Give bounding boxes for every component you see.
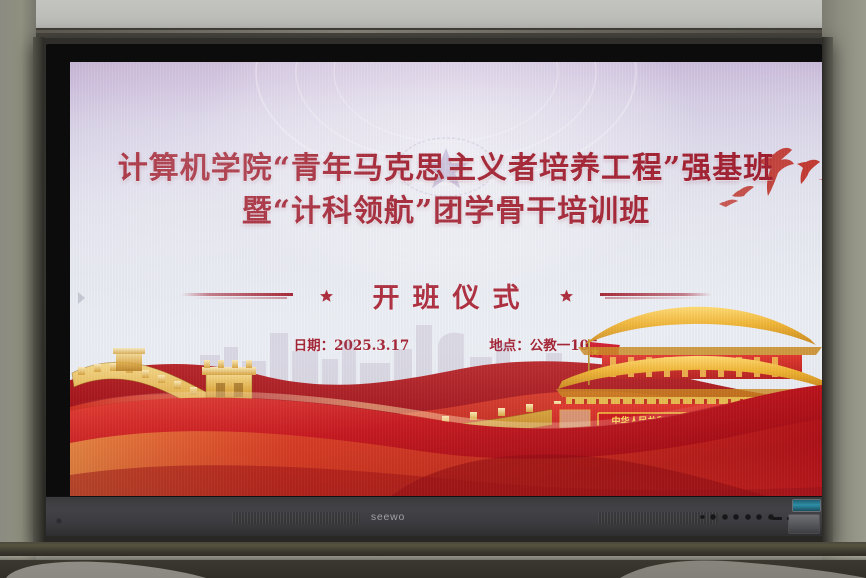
control-button-6[interactable] (756, 514, 762, 520)
slide-title-line-2: 暨“计科领航”团学骨干培训班 (70, 191, 822, 234)
control-button-3[interactable] (722, 514, 728, 520)
slide-title-block: 计算机学院“青年马克思主义者培养工程”强基班 暨“计科领航”团学骨干培训班 (70, 148, 822, 233)
brand-logo: seewo (0, 511, 776, 523)
control-button-1[interactable] (700, 515, 705, 520)
chassis-right-edge (822, 37, 833, 544)
star-icon-left (319, 288, 334, 303)
wall-left (0, 0, 36, 578)
ceiling-rail-highlight (0, 30, 866, 33)
control-button-5[interactable] (745, 514, 751, 520)
chassis-left-edge (33, 37, 44, 544)
foreground-object-left (6, 558, 206, 578)
control-button-2[interactable] (710, 514, 716, 520)
foreground-object-right (620, 558, 866, 578)
play-triangle-handle-icon[interactable] (76, 290, 87, 306)
decor-line-left (181, 291, 293, 300)
inspection-sticker (793, 500, 820, 511)
display-screen[interactable]: 计算机学院“青年马克思主义者培养工程”强基班 暨“计科领航”团学骨干培训班 开班… (70, 62, 822, 497)
port-1[interactable] (772, 517, 782, 520)
wall-upper (0, 0, 866, 30)
side-panel-plate (789, 515, 819, 533)
slide-title-line-1: 计算机学院“青年马克思主义者培养工程”强基班 (70, 148, 822, 191)
control-button-row[interactable] (700, 514, 774, 520)
red-silk-ribbon (70, 347, 822, 497)
control-button-4[interactable] (733, 514, 739, 520)
desk-surface (0, 542, 866, 556)
classroom-scene: 计算机学院“青年马克思主义者培养工程”强基班 暨“计科领航”团学骨干培训班 开班… (0, 0, 866, 578)
